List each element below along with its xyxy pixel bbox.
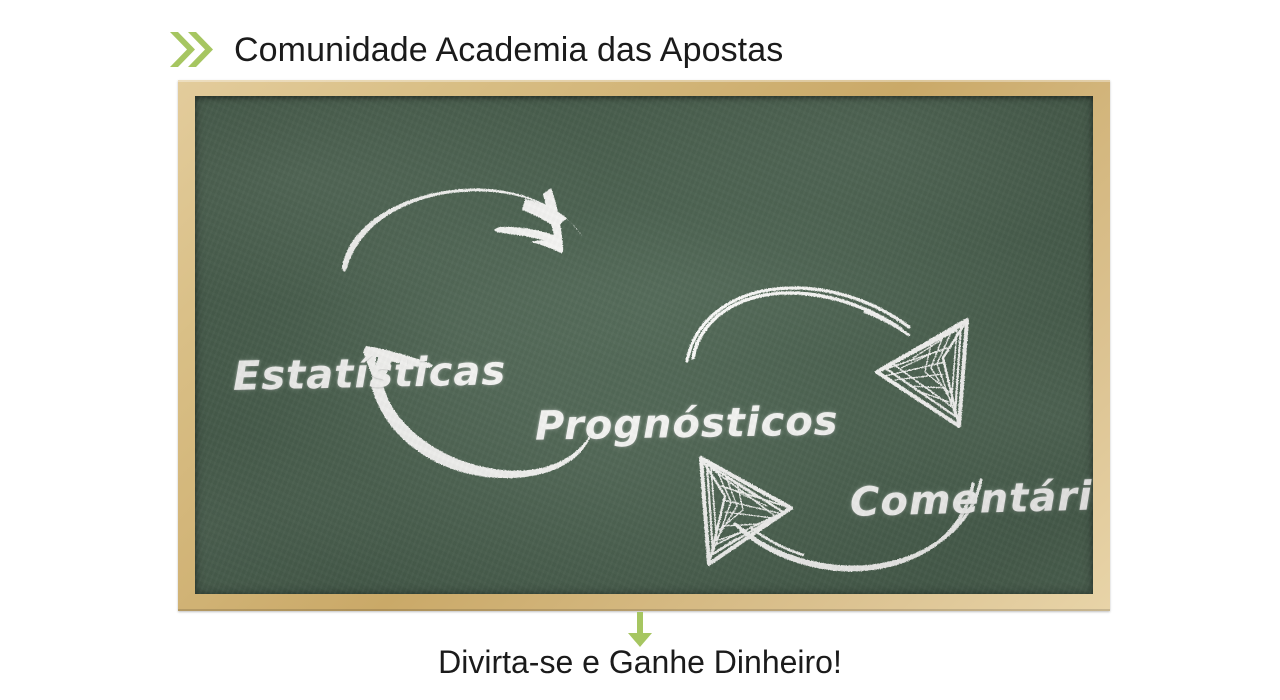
- chalk-label-prognosticos: Prognósticos: [535, 401, 839, 446]
- arrow-down-icon: [625, 612, 655, 648]
- chalkboard-surface: Estatísticas Prognósticos Comentários: [195, 96, 1093, 594]
- chalk-label-estatisticas: Estatísticas: [233, 351, 507, 397]
- chalk-label-comentarios: Comentários: [850, 475, 1093, 523]
- chalkboard: Estatísticas Prognósticos Comentários: [178, 80, 1110, 611]
- page-title: Comunidade Academia das Apostas: [234, 33, 783, 67]
- footer-caption: Divirta-se e Ganhe Dinheiro!: [0, 645, 1280, 680]
- arrow-top-left: [342, 188, 582, 272]
- page-header: Comunidade Academia das Apostas: [168, 22, 783, 78]
- double-chevron-right-icon: [168, 29, 214, 71]
